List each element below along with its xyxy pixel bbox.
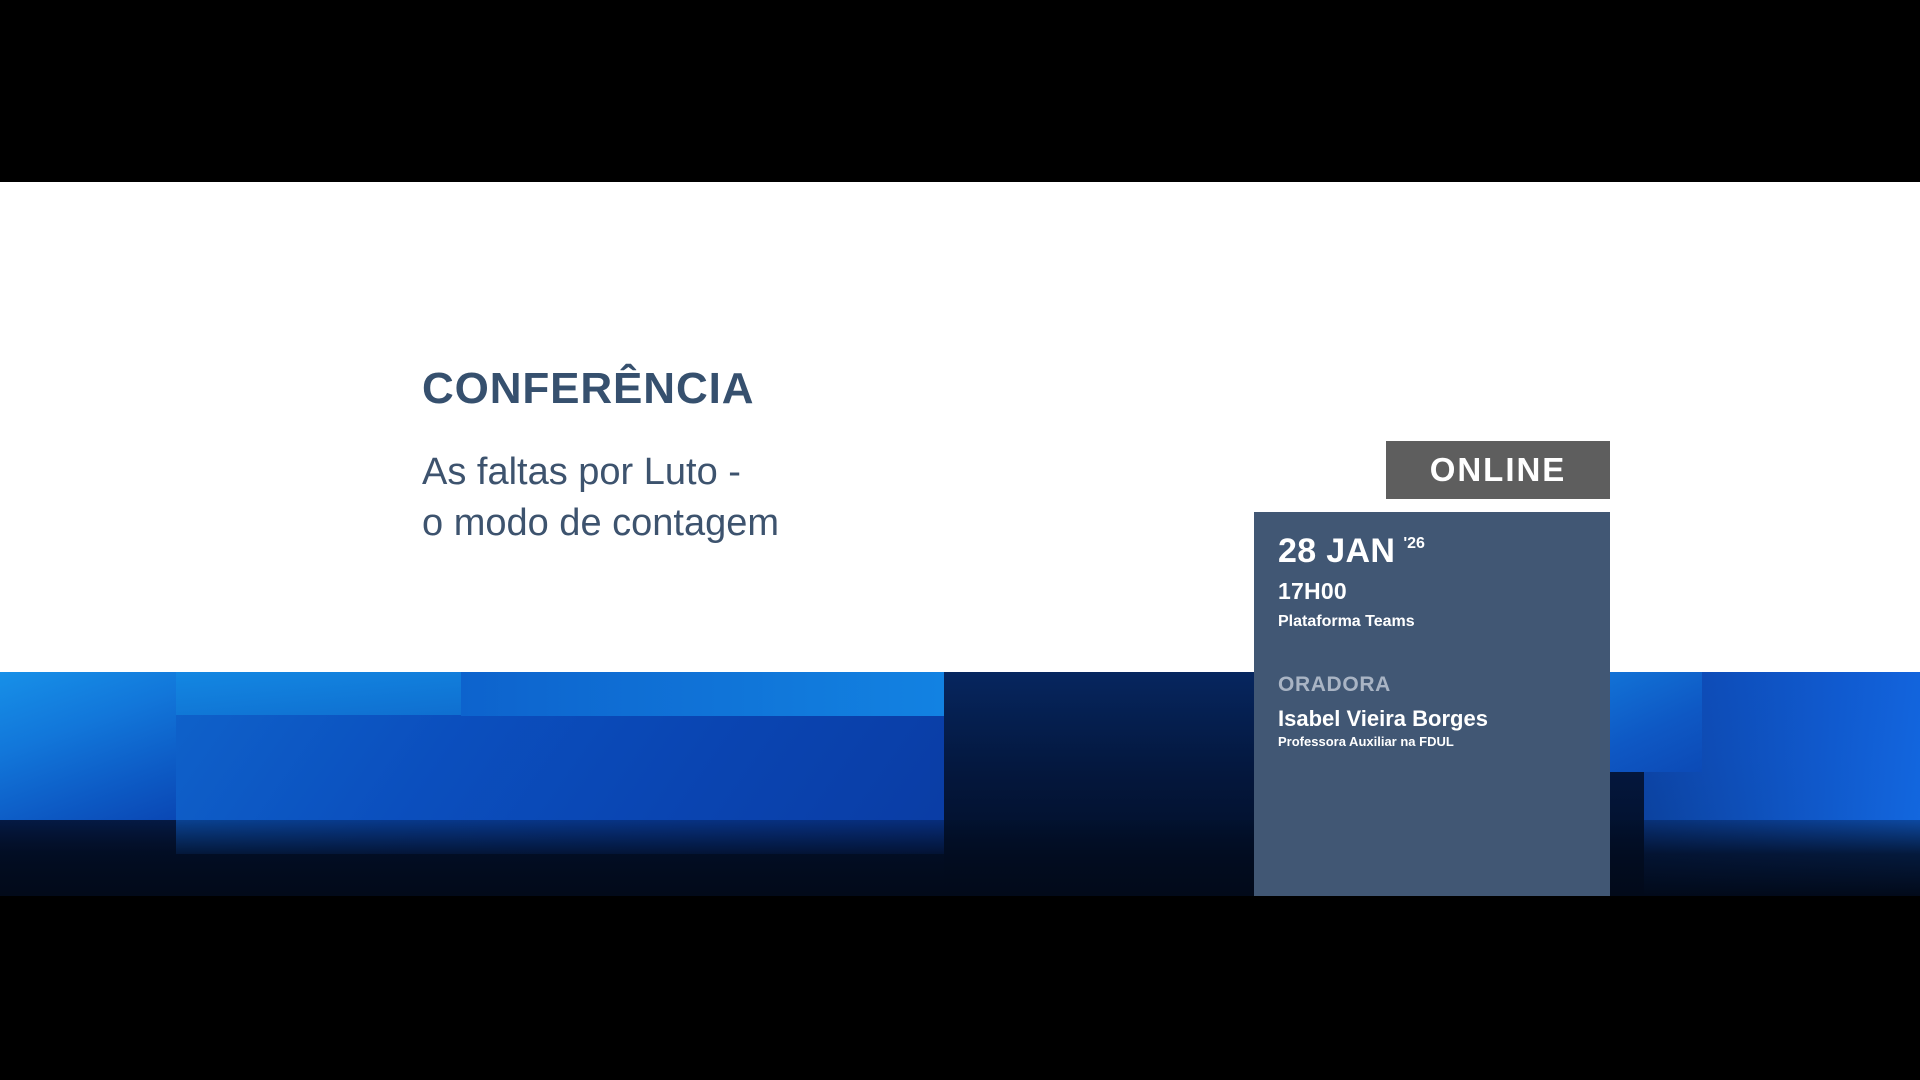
poster-canvas: CONFERÊNCIA As faltas por Luto - o modo … bbox=[0, 182, 1920, 896]
conference-kicker: CONFERÊNCIA bbox=[422, 367, 779, 411]
event-time: 17H00 bbox=[1278, 578, 1586, 605]
graphic-rect-mid-top bbox=[176, 672, 461, 715]
speaker-section: ORADORA Isabel Vieira Borges Professora … bbox=[1278, 673, 1586, 749]
online-badge-label: ONLINE bbox=[1430, 451, 1567, 489]
graphic-rect-mid-sheet bbox=[461, 672, 944, 716]
poster-stage: CONFERÊNCIA As faltas por Luto - o modo … bbox=[0, 0, 1920, 1080]
event-date-row: 28 JAN '26 bbox=[1278, 534, 1586, 568]
speaker-name: Isabel Vieira Borges bbox=[1278, 706, 1586, 732]
event-title-line-1: As faltas por Luto - bbox=[422, 447, 779, 498]
event-year: '26 bbox=[1403, 536, 1425, 552]
speaker-label: ORADORA bbox=[1278, 673, 1586, 697]
event-info-card: 28 JAN '26 17H00 Plataforma Teams ORADOR… bbox=[1254, 512, 1610, 896]
graphic-bottom-fade bbox=[0, 820, 1920, 896]
event-title-line-2: o modo de contagem bbox=[422, 498, 779, 549]
event-date: 28 JAN bbox=[1278, 534, 1395, 568]
poster-text-block: CONFERÊNCIA As faltas por Luto - o modo … bbox=[422, 367, 779, 550]
graphic-rect-right bbox=[1610, 672, 1702, 772]
speaker-affiliation: Professora Auxiliar na FDUL bbox=[1278, 734, 1586, 749]
graphic-rect-left bbox=[0, 672, 176, 820]
event-title: As faltas por Luto - o modo de contagem bbox=[422, 447, 779, 550]
event-platform: Plataforma Teams bbox=[1278, 613, 1586, 631]
letterbox-bottom-bar bbox=[0, 896, 1920, 1080]
decorative-blue-graphic-band bbox=[0, 672, 1920, 896]
online-badge: ONLINE bbox=[1386, 441, 1610, 499]
letterbox-top-bar bbox=[0, 0, 1920, 182]
